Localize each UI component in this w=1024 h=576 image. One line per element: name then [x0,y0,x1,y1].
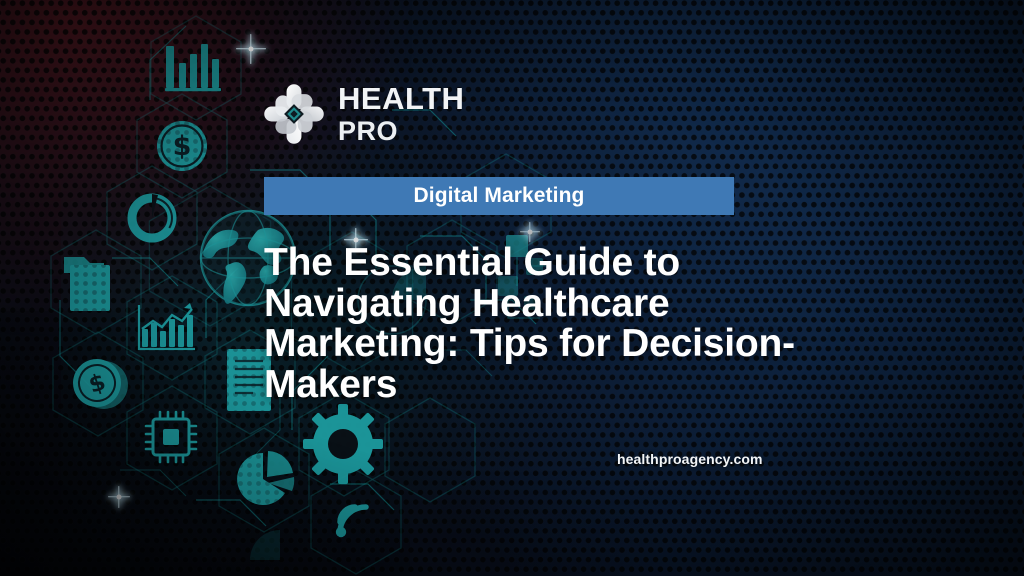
brand-name-line1: HEALTH [338,83,464,114]
content-layer: HEALTH PRO Digital Marketing The Essenti… [0,0,1024,576]
category-badge-label: Digital Marketing [414,184,585,208]
pinwheel-cross-medical-icon [263,83,325,145]
brand-logo[interactable]: HEALTH PRO [263,83,464,145]
page-title: The Essential Guide to Navigating Health… [264,243,824,405]
website-url[interactable]: healthproagency.com [617,451,763,467]
brand-name-line2: PRO [338,118,464,145]
category-badge[interactable]: Digital Marketing [264,177,734,215]
banner-canvas: $ [0,0,1024,576]
